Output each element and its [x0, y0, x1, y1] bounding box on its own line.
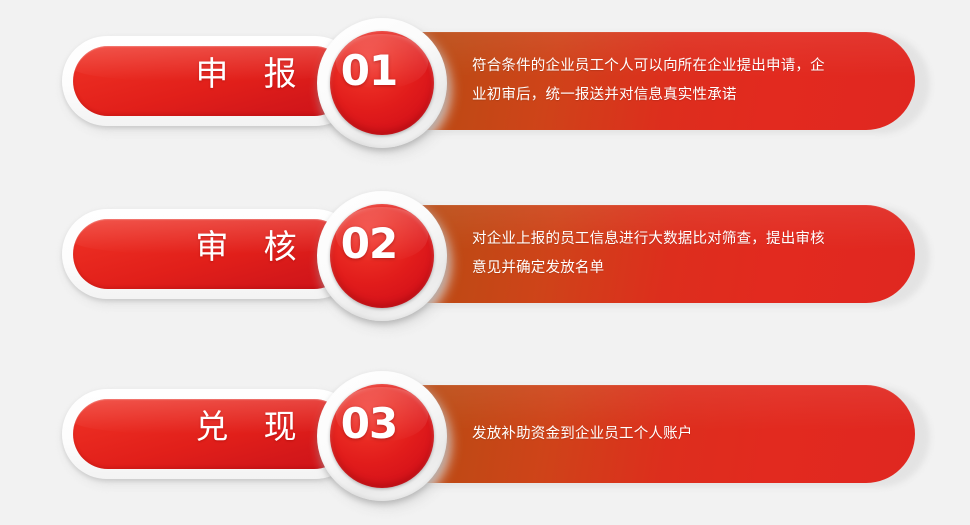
process-step-row: 发放补助资金到企业员工个人账户 兑 现 03	[0, 355, 970, 515]
process-step-row: 符合条件的企业员工个人可以向所在企业提出申请，企 业初审后，统一报送并对信息真实…	[0, 2, 970, 162]
step-description-text: 符合条件的企业员工个人可以向所在企业提出申请，企 业初审后，统一报送并对信息真实…	[472, 32, 892, 130]
step-number-text: 02	[317, 191, 421, 295]
step-description-text: 发放补助资金到企业员工个人账户	[472, 385, 892, 483]
step-label-text: 兑 现	[62, 389, 338, 459]
step-number-medallion[interactable]: 02	[317, 191, 451, 325]
step-number-text: 03	[317, 371, 421, 475]
step-description-text: 对企业上报的员工信息进行大数据比对筛查，提出审核 意见并确定发放名单	[472, 205, 892, 303]
step-number-medallion[interactable]: 03	[317, 371, 451, 505]
step-number-text: 01	[317, 18, 421, 122]
step-label-text: 审 核	[62, 209, 338, 279]
step-number-medallion[interactable]: 01	[317, 18, 451, 152]
step-label-text: 申 报	[62, 36, 338, 106]
diagram-canvas: 符合条件的企业员工个人可以向所在企业提出申请，企 业初审后，统一报送并对信息真实…	[0, 0, 970, 525]
process-step-row: 对企业上报的员工信息进行大数据比对筛查，提出审核 意见并确定发放名单 审 核 0…	[0, 175, 970, 335]
